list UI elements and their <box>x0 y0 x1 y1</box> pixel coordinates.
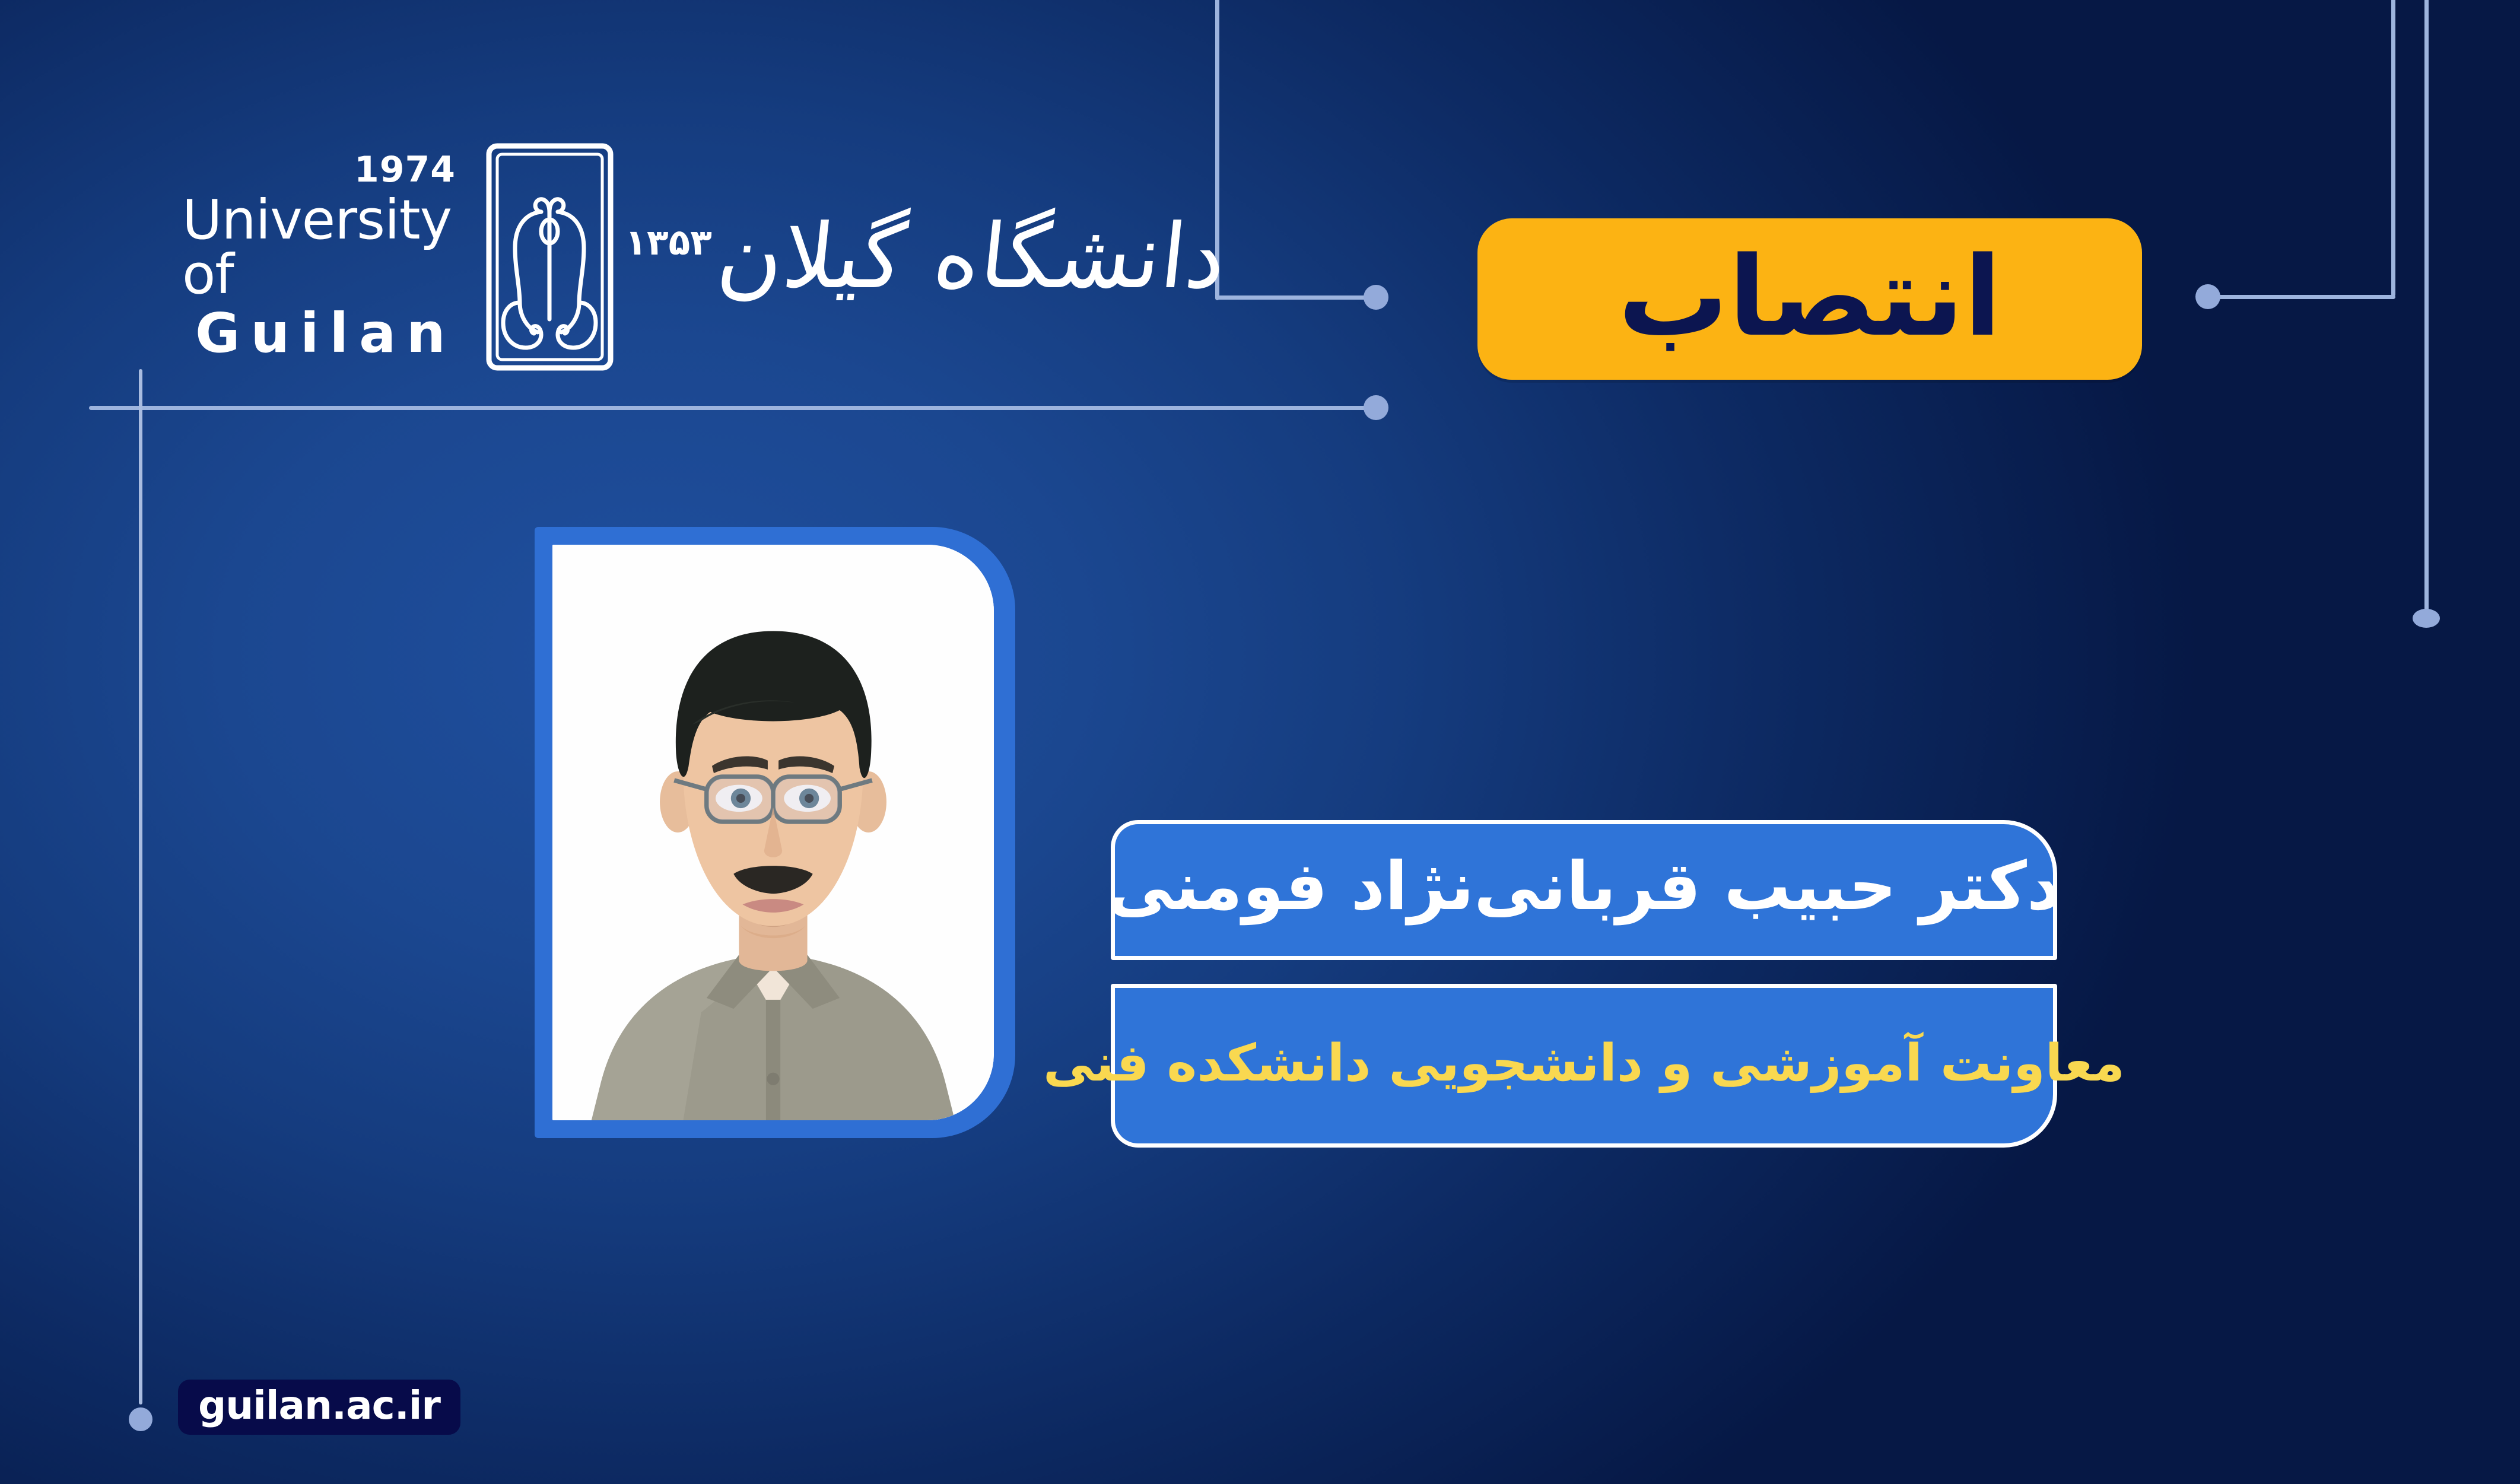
headline-label: انتصاب <box>1618 242 2001 352</box>
deco-dot-far-right-bottom <box>2413 609 2440 628</box>
person-name: دکتر حبیب قربانی‌نژاد فومنی <box>1107 853 2061 920</box>
deco-dot-top-center <box>1364 285 1388 310</box>
headline-badge: انتصاب <box>1477 218 2142 380</box>
appointment-poster: 1974 University of Guilan دانشگاه گیلان <box>0 0 2520 1484</box>
portrait-frame <box>535 527 1015 1138</box>
logo-year-jalali: ۱۳۵۳ <box>625 222 711 263</box>
deco-line-right-horizontal <box>2208 295 2395 299</box>
deco-line-left-vertical <box>139 369 142 1404</box>
logo-university-of-label: University of <box>182 193 477 302</box>
deco-line-right-vertical-short <box>2391 0 2395 297</box>
university-of-guilan-emblem-icon <box>483 141 617 373</box>
portrait-image <box>552 545 994 1120</box>
logo-persian-name: دانشگاه گیلان <box>713 212 1230 301</box>
university-logo: 1974 University of Guilan دانشگاه گیلان <box>169 139 1225 374</box>
logo-year-gregorian: 1974 <box>354 149 456 190</box>
website-url-badge[interactable]: guilan.ac.ir <box>178 1380 460 1435</box>
deco-line-upper-horizontal <box>89 406 1378 410</box>
person-role: معاونت آموزشی و دانشجویی دانشکده فنی <box>1043 1038 2125 1089</box>
deco-line-top-center-horizontal <box>1215 295 1377 300</box>
logo-english-lockup: 1974 University of Guilan <box>169 149 477 365</box>
deco-line-far-right-vertical <box>2424 0 2429 615</box>
logo-persian-lockup: دانشگاه گیلان ۱۳۵۳ <box>625 212 1225 301</box>
person-role-banner: معاونت آموزشی و دانشجویی دانشکده فنی <box>1111 984 2057 1148</box>
website-url: guilan.ac.ir <box>198 1386 440 1425</box>
portrait-photo <box>552 545 994 1120</box>
deco-dot-right <box>2195 284 2220 309</box>
person-name-banner: دکتر حبیب قربانی‌نژاد فومنی <box>1111 820 2057 960</box>
deco-dot-left-bottom <box>129 1407 152 1431</box>
logo-guilan-label: Guilan <box>195 302 456 365</box>
deco-dot-upper-right <box>1364 395 1388 420</box>
